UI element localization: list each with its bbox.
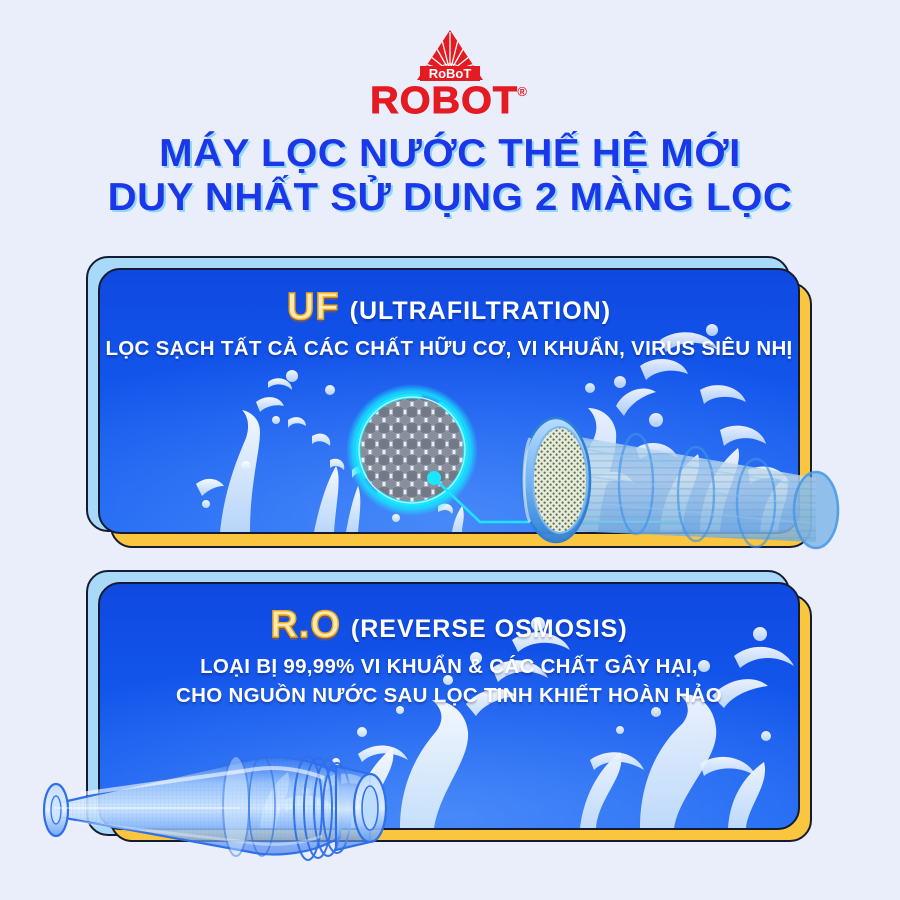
uf-subtitle-line-1: LỌC SẠCH TẤT CẢ CÁC CHẤT HỮU CƠ, VI KHUẨ… xyxy=(100,335,798,362)
brand-wordmark: ROBOT ® xyxy=(373,82,527,120)
ro-membrane-element xyxy=(40,718,440,888)
headline-line-2: DUY NHẤT SỬ DỤNG 2 MÀNG LỌC xyxy=(0,176,900,220)
ro-subtitle-line-1: LOẠI BỊ 99,99% VI KHUẨN & CÁC CHẤT GÂY H… xyxy=(100,653,798,680)
uf-acronym: UF xyxy=(287,288,340,326)
uf-card-heading: UF (ULTRAFILTRATION) LỌC SẠCH TẤT CẢ CÁC… xyxy=(100,288,798,362)
ro-subtitle-line-2: CHO NGUỒN NƯỚC SAU LỌC TINH KHIẾT HOÀN H… xyxy=(100,682,798,709)
robot-sunburst-logo-icon: RoBoT xyxy=(413,28,487,84)
uf-hollow-fiber-membrane xyxy=(516,408,876,588)
registered-trademark-icon: ® xyxy=(517,84,527,99)
brand-logo: RoBoT ROBOT ® xyxy=(0,28,900,118)
uf-acronym-full: (ULTRAFILTRATION) xyxy=(350,299,611,324)
page-title: MÁY LỌC NƯỚC THẾ HỆ MỚI DUY NHẤT SỬ DỤNG… xyxy=(0,132,900,221)
headline-line-1: MÁY LỌC NƯỚC THẾ HỆ MỚI xyxy=(0,132,900,176)
ro-card-heading: R.O (REVERSE OSMOSIS) LOẠI BỊ 99,99% VI … xyxy=(100,606,798,709)
poster-canvas: RoBoT ROBOT ® MÁY LỌC NƯỚC THẾ HỆ MỚI DU… xyxy=(0,0,900,900)
ro-acronym: R.O xyxy=(270,606,341,644)
brand-wordmark-text: ROBOT xyxy=(370,82,518,120)
ro-title-row: R.O (REVERSE OSMOSIS) xyxy=(100,606,798,644)
logo-banner-text: RoBoT xyxy=(429,66,472,81)
ro-acronym-full: (REVERSE OSMOSIS) xyxy=(351,617,628,642)
uf-title-row: UF (ULTRAFILTRATION) xyxy=(100,288,798,326)
